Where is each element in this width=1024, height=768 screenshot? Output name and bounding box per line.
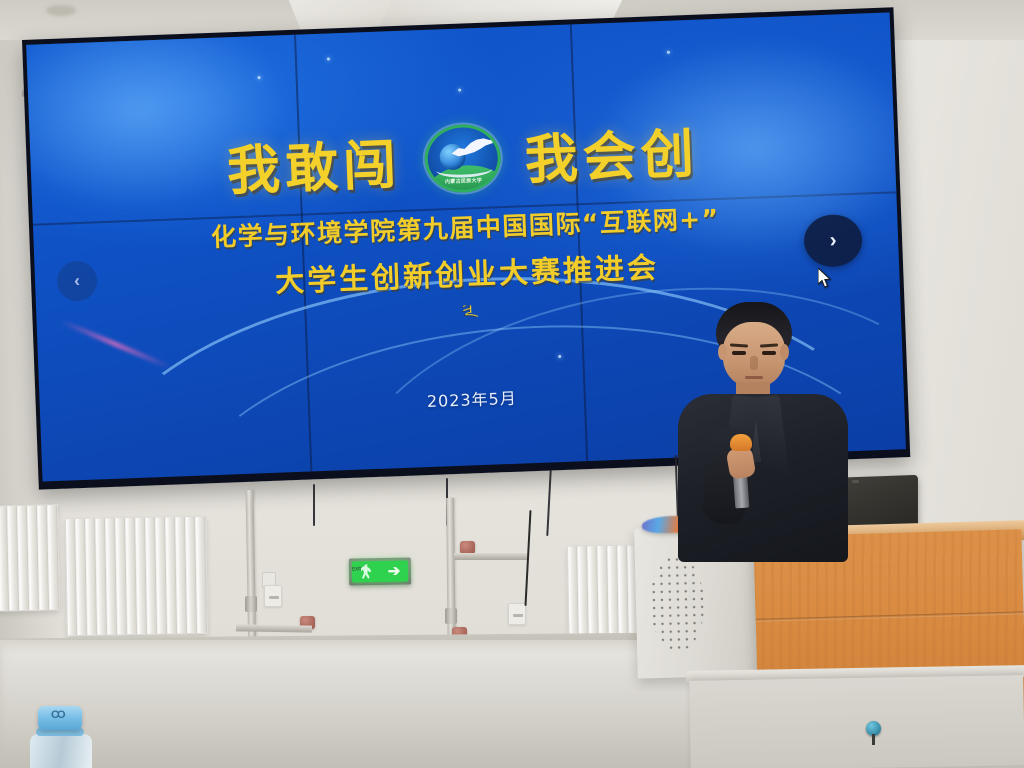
slide-sparkle-2 — [327, 57, 330, 60]
headline-left: 我敢闯 — [225, 123, 402, 205]
wall-outlet-left[interactable] — [264, 585, 282, 607]
mouse-pointer-icon — [818, 268, 832, 288]
pipe-coupling-left — [245, 596, 257, 612]
chevron-right-icon: › — [829, 229, 837, 253]
presenter-eye-right — [762, 351, 776, 355]
exit-sign-brand: EXIT — [352, 566, 361, 572]
presenter-nose — [750, 356, 758, 370]
podium-base-cabinet — [689, 675, 1024, 768]
foreground-water-bottle[interactable] — [28, 700, 92, 768]
slide-sparkle-3 — [458, 89, 461, 92]
presenter — [672, 300, 852, 560]
chevron-left-icon: ‹ — [74, 271, 80, 291]
presenter-eye-left — [732, 351, 746, 355]
pipe-coupling-right — [445, 608, 457, 624]
ceiling-fixture — [46, 5, 76, 16]
slide-sparkle-1 — [258, 76, 261, 79]
foreground-bottle-cap — [38, 706, 82, 730]
slide-sparkle-4 — [558, 355, 561, 358]
university-logo-icon: 内蒙古民族大学 — [424, 123, 502, 194]
mongolian-text: ᠬᠢᠮᠢ ᠪᠠ ᠣᠷᠴᠢᠨ ᠲᠣᠭᠣᠷᠢᠨ ᠤ ᠳᠡᠭᠡᠳᠦ ᠰᠤᠷᠭᠠᠭᠤᠯᠢ — [455, 289, 482, 335]
slide-sparkle-5 — [667, 51, 670, 54]
floor-reflection — [0, 646, 700, 766]
podium-panel-groove — [756, 611, 1024, 621]
radiator-left-partial — [0, 504, 60, 611]
presenter-mouth — [745, 376, 763, 379]
headline-right: 我会创 — [523, 112, 700, 194]
exit-arrow-icon: ➔ — [388, 564, 401, 579]
presenter-hand — [726, 446, 757, 480]
radiator-left — [65, 516, 208, 636]
pipe-horizontal-left — [236, 624, 312, 632]
presenter-ear-right — [780, 344, 789, 360]
foreground-bottle-body — [30, 734, 92, 768]
emergency-exit-sign: EXIT ➔ — [349, 557, 411, 585]
microphone-head-icon — [730, 434, 752, 451]
screen-cable-4 — [313, 484, 315, 526]
photo-scene: 我敢闯 内蒙古民族大学 我会创 化学与环境学院第九届中国国际“互联网+” 大学生… — [0, 0, 1024, 768]
cabinet-lock[interactable] — [866, 721, 881, 736]
pipe-horizontal-upper — [454, 553, 528, 560]
presenter-ear-left — [718, 344, 727, 360]
radiator-fin — [48, 505, 59, 609]
laptop-hinge — [852, 480, 859, 483]
radiator-fin — [196, 517, 207, 633]
running-man-icon — [359, 563, 372, 580]
speaker-grille — [649, 555, 705, 652]
wall-outlet-right[interactable] — [508, 603, 526, 625]
